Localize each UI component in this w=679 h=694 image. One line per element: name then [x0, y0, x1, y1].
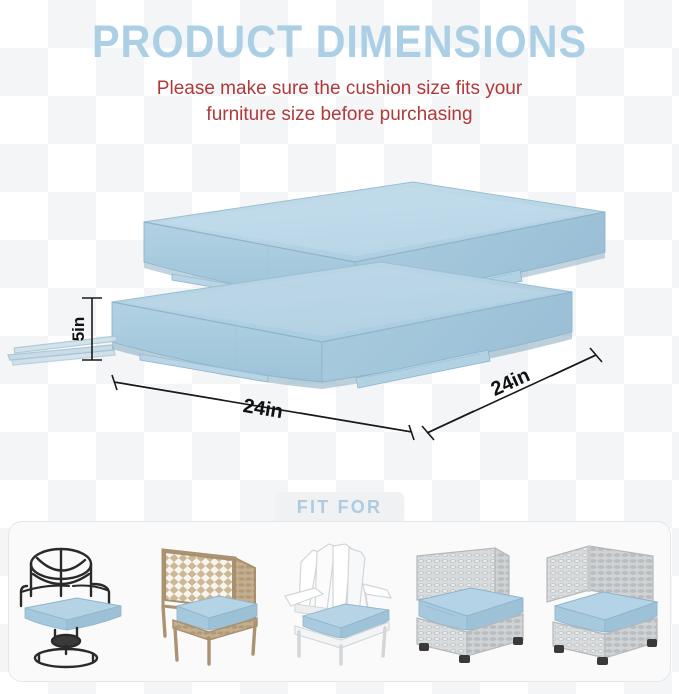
- fit-item-wicker-sectional-corner-seat: [540, 532, 668, 672]
- subtitle-line-1: Please make sure the cushion size fits y…: [0, 76, 679, 102]
- page-title: PRODUCT DIMENSIONS: [27, 16, 652, 68]
- fit-item-metal-swivel-dining-chair: [11, 532, 139, 672]
- subtitle-line-2: furniture size before purchasing: [0, 102, 679, 128]
- fit-item-wicker-dining-chair: [143, 532, 271, 672]
- fit-item-adirondack-chair: [275, 532, 403, 672]
- dimension-height-label: 5in: [69, 317, 88, 342]
- dimension-width-label: 24in: [241, 395, 284, 423]
- dimension-depth-label: 24in: [488, 364, 534, 401]
- header: PRODUCT DIMENSIONS Please make sure the …: [0, 16, 679, 128]
- fit-item-wicker-sectional-armless-seat: [408, 532, 536, 672]
- fit-for-panel: [8, 521, 671, 682]
- seat-cushion: [25, 598, 121, 630]
- page-background: PRODUCT DIMENSIONS Please make sure the …: [0, 0, 679, 694]
- page-subtitle: Please make sure the cushion size fits y…: [0, 76, 679, 128]
- fit-for-badge: FIT FOR: [275, 492, 404, 524]
- cushion-dimension-illustration: 5in 24in 24in: [0, 150, 679, 480]
